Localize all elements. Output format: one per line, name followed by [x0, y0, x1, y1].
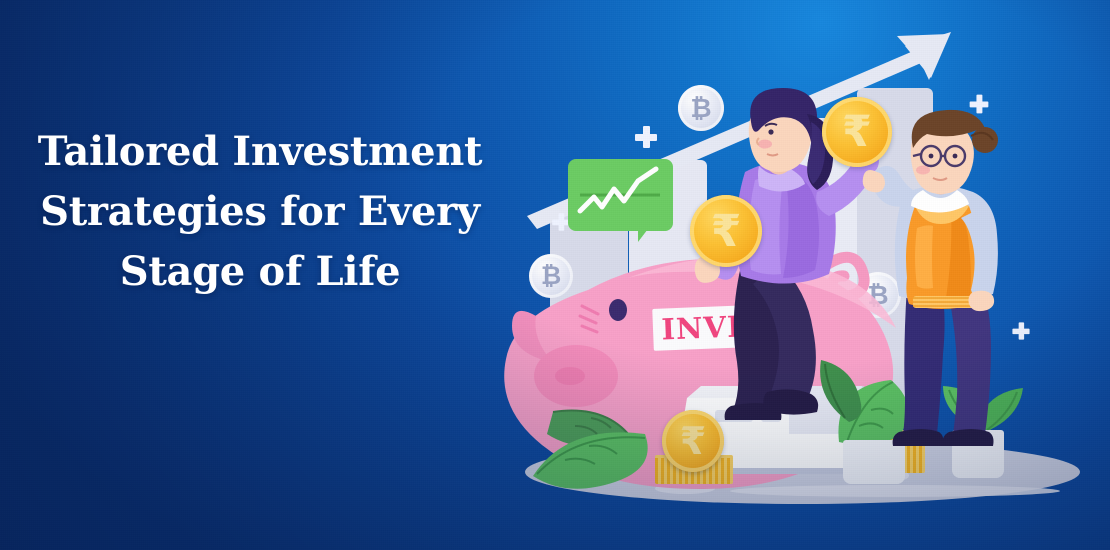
headline-line-2: Strategies for Every: [0, 182, 520, 242]
headline-line-1: Tailored Investment: [0, 122, 520, 182]
rupee-coin-right: ₹: [822, 97, 892, 167]
plus-icon-1: [635, 126, 657, 148]
plus-icon-4: [1012, 322, 1029, 339]
rupee-coin-bottom: ₹: [662, 410, 724, 472]
trend-line-chart-icon: [568, 159, 673, 231]
headline-line-3: Stage of Life: [0, 242, 520, 302]
banner-root: Tailored Investment Strategies for Every…: [0, 0, 1110, 550]
hero-illustration: ₿ ₿ ₿: [505, 0, 1110, 550]
ground-shadow-long: [730, 485, 1060, 497]
page-title: Tailored Investment Strategies for Every…: [0, 122, 520, 302]
rupee-coin-left: ₹: [690, 195, 762, 267]
man-figure: [873, 110, 1013, 460]
